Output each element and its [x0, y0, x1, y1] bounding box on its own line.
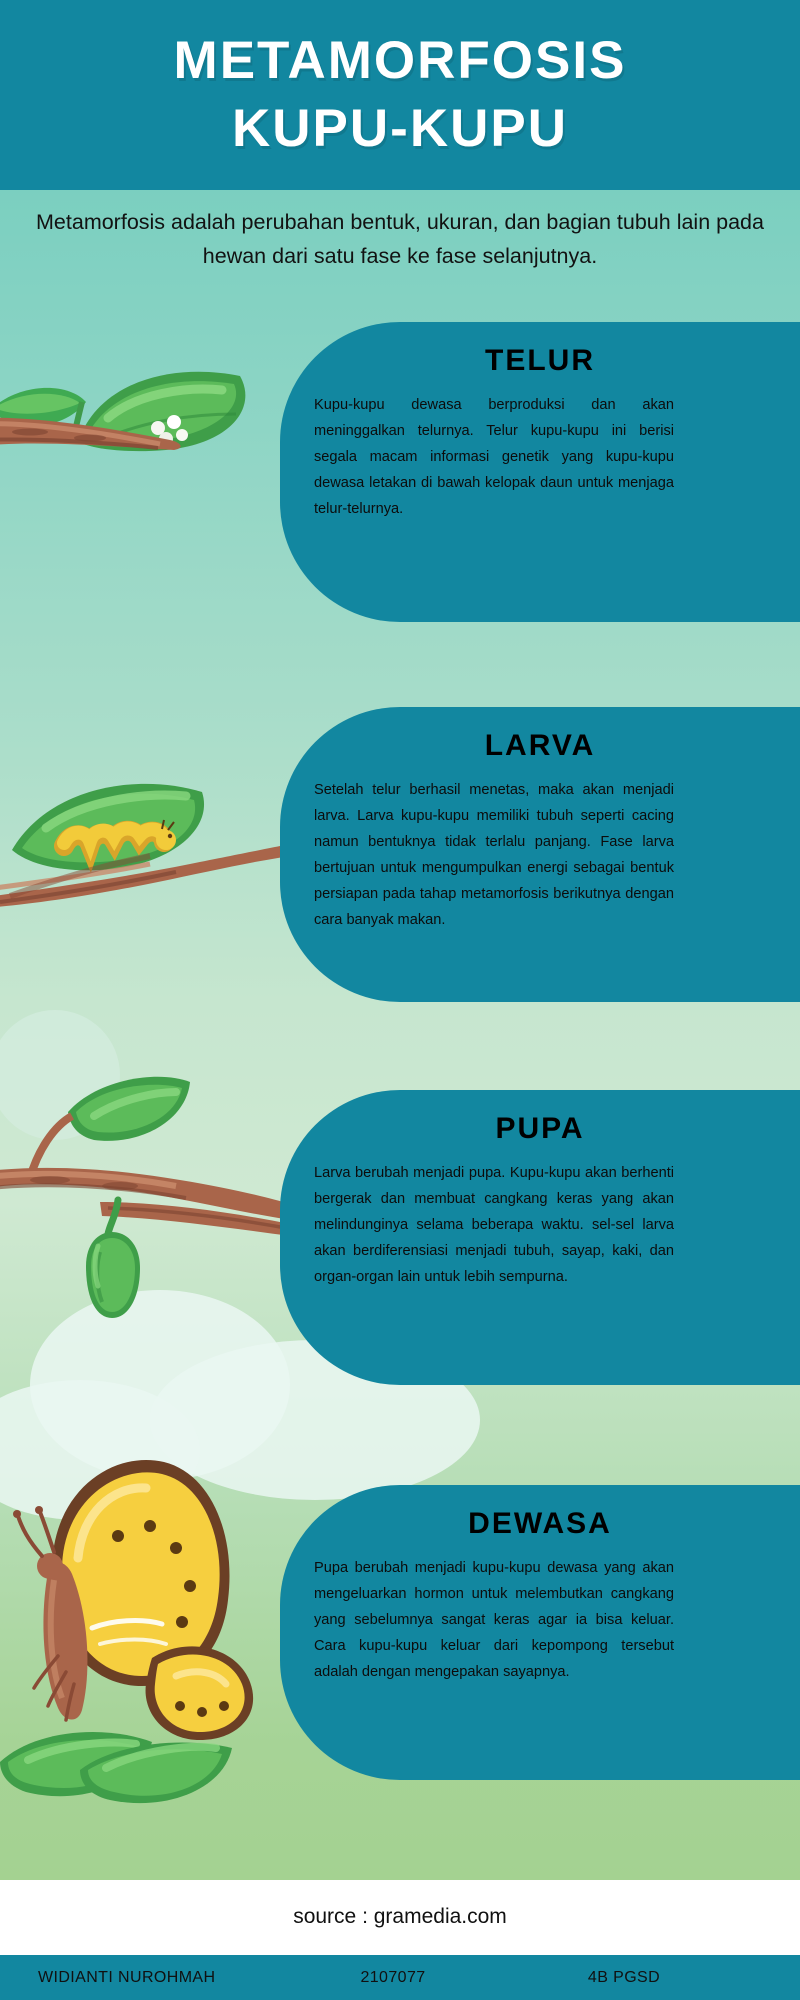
stage-title-telur: TELUR: [314, 344, 766, 378]
stage-title-pupa: PUPA: [314, 1112, 766, 1146]
illustration-pupa: [0, 1060, 290, 1340]
stage-title-larva: LARVA: [314, 729, 766, 763]
footer-student-id: 2107077: [308, 1969, 478, 1987]
illustration-larva: [0, 730, 280, 910]
illustration-telur: [0, 290, 280, 460]
infographic-page: METAMORFOSIS KUPU-KUPU Metamorfosis adal…: [0, 0, 800, 2000]
illustration-dewasa: [0, 1440, 300, 1840]
header-banner: METAMORFOSIS KUPU-KUPU: [0, 0, 800, 190]
stage-card-telur: TELUR Kupu-kupu dewasa berproduksi dan a…: [280, 322, 800, 622]
intro-paragraph: Metamorfosis adalah perubahan bentuk, uk…: [0, 205, 800, 273]
stage-body-larva: Setelah telur berhasil menetas, maka aka…: [314, 777, 674, 933]
footer-class: 4B PGSD: [478, 1969, 800, 1987]
page-title-line1: METAMORFOSIS: [174, 30, 627, 92]
source-note: source : gramedia.com: [0, 1905, 800, 1929]
stage-body-pupa: Larva berubah menjadi pupa. Kupu-kupu ak…: [314, 1160, 674, 1290]
page-title-line2: KUPU-KUPU: [232, 98, 568, 160]
stage-card-larva: LARVA Setelah telur berhasil menetas, ma…: [280, 707, 800, 1002]
stage-body-telur: Kupu-kupu dewasa berproduksi dan akan me…: [314, 392, 674, 522]
stage-card-dewasa: DEWASA Pupa berubah menjadi kupu-kupu de…: [280, 1485, 800, 1780]
footer-author-name: WIDIANTI NUROHMAH: [38, 1969, 308, 1987]
stage-title-dewasa: DEWASA: [314, 1507, 766, 1541]
footer-bar: WIDIANTI NUROHMAH 2107077 4B PGSD: [0, 1955, 800, 2000]
stage-body-dewasa: Pupa berubah menjadi kupu-kupu dewasa ya…: [314, 1555, 674, 1685]
stage-card-pupa: PUPA Larva berubah menjadi pupa. Kupu-ku…: [280, 1090, 800, 1385]
